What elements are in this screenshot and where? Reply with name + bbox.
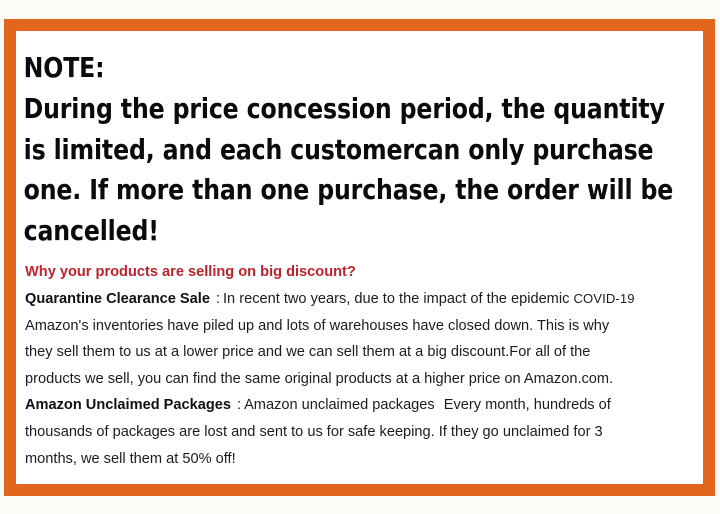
unclaimed-packages-text-2: Every month, hundreds of [444,397,611,413]
headline-line-2: is limited, and each customercan only pu… [24,130,671,171]
quarantine-clearance-line-4: products we sell, you can find the same … [25,366,703,393]
unclaimed-packages-line-1: Amazon Unclaimed Packages:Amazon unclaim… [25,392,703,419]
quarantine-clearance-line-1: Quarantine Clearance Sale:In recent two … [25,286,703,313]
quarantine-clearance-line-2: Amazon's inventories have piled up and l… [25,313,703,340]
headline-line-3: one. If more than one purchase, the orde… [24,170,671,211]
note-card-inner: NOTE: During the price concession period… [16,31,703,484]
covid-19-label: COVID-19 [573,291,634,306]
unclaimed-packages-colon: : [231,392,244,419]
headline-line-4: cancelled! [24,211,671,252]
quarantine-clearance-label: Quarantine Clearance Sale [25,291,210,307]
unclaimed-packages-text-1: Amazon unclaimed packages [244,397,435,413]
quarantine-clearance-text-1: In recent two years, due to the impact o… [223,291,573,307]
note-card: NOTE: During the price concession period… [4,19,715,496]
headline-line-1: During the price concession period, the … [24,89,671,130]
note-body: Quarantine Clearance Sale:In recent two … [16,283,703,472]
why-discount-heading: Why your products are selling on big dis… [16,252,703,283]
unclaimed-packages-label: Amazon Unclaimed Packages [25,397,231,413]
note-headline: NOTE: During the price concession period… [16,39,672,252]
unclaimed-packages-line-3: months, we sell them at 50% off! [25,446,703,473]
unclaimed-packages-line-2: thousands of packages are lost and sent … [25,419,703,446]
quarantine-clearance-colon: : [210,286,223,313]
headline-line-note-label: NOTE: [24,48,671,89]
quarantine-clearance-line-3: they sell them to us at a lower price an… [25,339,703,366]
